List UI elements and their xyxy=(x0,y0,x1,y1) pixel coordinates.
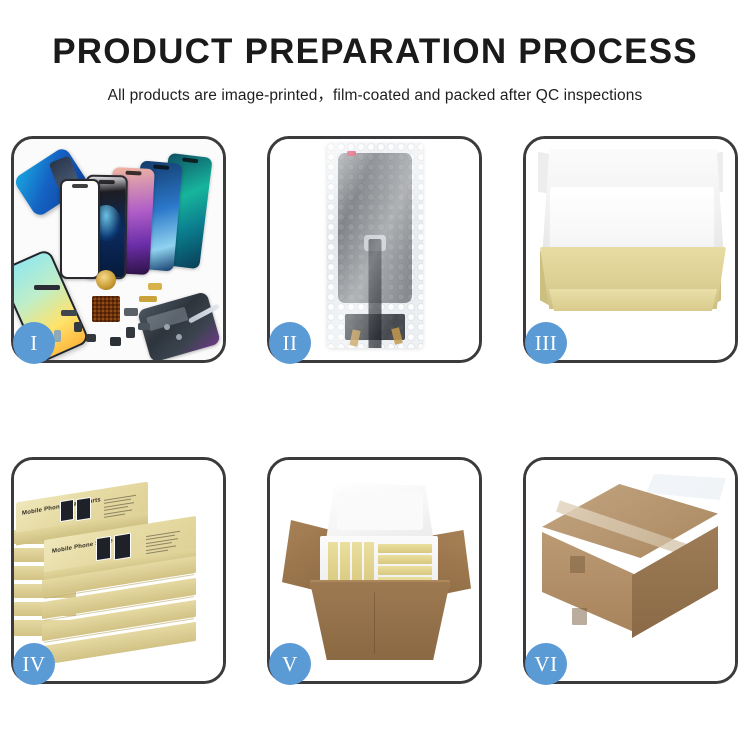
foam-lid xyxy=(326,482,434,544)
box-screen-image xyxy=(60,499,74,522)
packed-box xyxy=(378,566,432,575)
step-badge-2: II xyxy=(269,322,311,364)
small-part-icon xyxy=(124,308,138,316)
small-part-icon xyxy=(61,310,77,316)
kraft-box-stack: Mobile Phone Spare Parts Mobile Phone Sp… xyxy=(14,472,223,672)
flex-cable-part-icon xyxy=(139,296,157,302)
screw-icon xyxy=(164,324,170,330)
small-part-icon xyxy=(74,322,82,332)
box-screen-image xyxy=(114,533,131,561)
earpiece-part-icon xyxy=(34,285,60,290)
step-panel-6[interactable]: VI xyxy=(523,457,738,684)
carton-seam xyxy=(374,592,375,654)
carton-seal-mark xyxy=(570,556,585,573)
carton-body xyxy=(310,582,450,660)
connector-grid-part-icon xyxy=(92,296,120,322)
page-title: PRODUCT PREPARATION PROCESS xyxy=(0,34,750,69)
steps-grid: I II xyxy=(11,136,739,684)
box-screen-image xyxy=(96,536,111,561)
product-preparation-infographic: PRODUCT PREPARATION PROCESS All products… xyxy=(0,0,750,750)
small-part-icon xyxy=(138,323,150,330)
header: PRODUCT PREPARATION PROCESS All products… xyxy=(0,0,750,105)
carton-seal-mark xyxy=(572,608,587,625)
step-panel-1[interactable]: I xyxy=(11,136,226,363)
plastic-sheen xyxy=(327,143,423,348)
coil-part-icon xyxy=(96,270,116,290)
flex-cable-part-icon xyxy=(148,283,162,290)
sim-tray-part-icon xyxy=(54,330,61,342)
page-subtitle: All products are image-printed，film-coat… xyxy=(0,83,750,105)
step-panel-5[interactable]: V xyxy=(267,457,482,684)
tray-front-panel xyxy=(549,289,717,311)
step-badge-3: III xyxy=(525,322,567,364)
step-badge-4: IV xyxy=(13,643,55,685)
small-part-icon xyxy=(126,327,135,338)
bubble-wrap-bag xyxy=(327,143,423,348)
screw-icon xyxy=(176,334,182,340)
step-badge-6: VI xyxy=(525,643,567,685)
packed-box xyxy=(378,555,432,564)
step-badge-1: I xyxy=(13,322,55,364)
small-part-icon xyxy=(110,337,121,346)
step-panel-3[interactable]: III xyxy=(523,136,738,363)
phone-fan-group xyxy=(66,155,223,275)
step-panel-2[interactable]: II xyxy=(267,136,482,363)
phone-white-glass-icon xyxy=(60,179,100,279)
box-screen-image xyxy=(76,497,91,521)
kraft-box-top-left: Mobile Phone Spare Parts xyxy=(16,492,148,528)
step-panel-4[interactable]: Mobile Phone Spare Parts Mobile Phone Sp… xyxy=(11,457,226,684)
small-part-icon xyxy=(86,334,96,342)
step-badge-5: V xyxy=(269,643,311,685)
packed-box xyxy=(378,544,432,553)
